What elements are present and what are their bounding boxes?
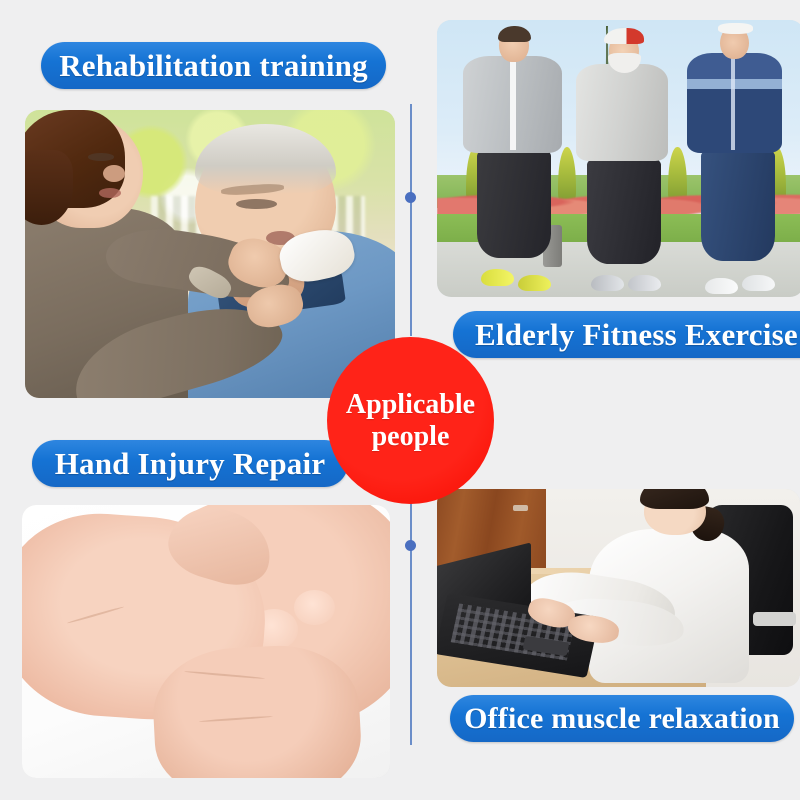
applicable-people-badge[interactable]: Applicable people (327, 337, 494, 504)
office-photo (437, 489, 800, 687)
jogger-right-shoe (742, 275, 775, 292)
connector-line-bottom (410, 500, 412, 745)
jogger-middle-shoe (628, 275, 661, 292)
hands-photo (22, 505, 390, 778)
label-office-muscle-relaxation[interactable]: Office muscle relaxation (450, 695, 794, 742)
connector-dot-top (405, 192, 416, 203)
knuckle-highlight (294, 590, 334, 625)
jogger-left-zipper (510, 59, 515, 150)
jogger-middle-sweater (576, 64, 668, 161)
jogger-right-legs (701, 147, 774, 261)
infographic-canvas: Rehabilitation training Elderly Fitness … (0, 0, 800, 800)
jogger-middle-shoe (591, 275, 624, 292)
woman-hair (640, 489, 709, 509)
therapist-nose (103, 165, 125, 182)
badge-line-1: Applicable (346, 389, 475, 420)
label-elderly-fitness-exercise[interactable]: Elderly Fitness Exercise (453, 311, 800, 358)
jogger-left-shoe (481, 269, 514, 286)
jogging-photo (437, 20, 800, 297)
patient-eye (236, 199, 277, 209)
therapist-eye (88, 153, 114, 160)
therapist-lips (99, 188, 121, 198)
therapy-photo (25, 110, 395, 398)
label-rehabilitation-training[interactable]: Rehabilitation training (41, 42, 386, 89)
jogger-left-shoe (518, 275, 551, 292)
connector-line-top (410, 104, 412, 336)
jogger-left-legs (477, 147, 550, 258)
badge-line-2: people (372, 421, 450, 452)
office-chair-armrest (753, 612, 797, 626)
jogger-middle-legs (587, 156, 660, 264)
jogger-right-headband (718, 23, 753, 34)
jogger-left-hair (498, 26, 531, 43)
jogger-right-shoe (705, 278, 738, 295)
jogger-middle-cap (604, 28, 644, 43)
jogger-right-zipper (731, 56, 736, 150)
label-hand-injury-repair[interactable]: Hand Injury Repair (32, 440, 348, 487)
connector-dot-bottom (405, 540, 416, 551)
cabinet-handle (513, 505, 528, 511)
